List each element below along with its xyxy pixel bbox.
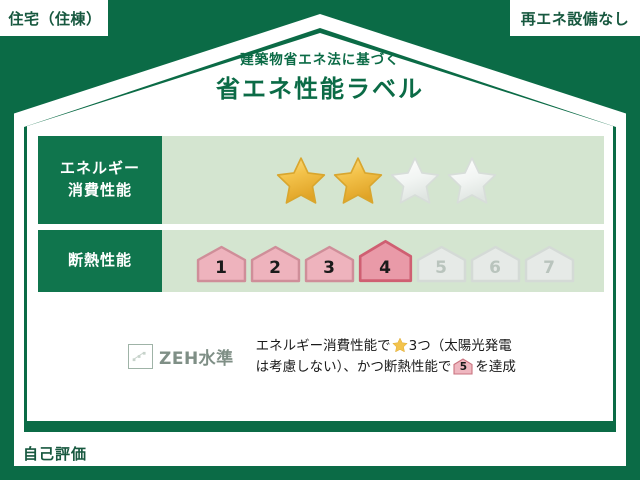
label-subtitle: 建築物省エネ法に基づく — [0, 54, 640, 68]
renewable-equipment-badge: 再エネ設備なし — [510, 0, 640, 36]
insulation-level-6: 6 — [470, 245, 521, 283]
energy-performance-label-line2: 消費性能 — [68, 180, 132, 202]
zeh-label: ZEH水準 — [159, 344, 234, 369]
star-icon-empty — [446, 155, 498, 205]
zeh-badge: ZEH水準 — [128, 344, 234, 369]
evaluation-date: 評価日 2024年9月27日 — [459, 434, 622, 453]
house-icon: 5 — [453, 358, 473, 375]
star-icon-empty — [389, 155, 441, 205]
zeh-desc-line2-b: を達成 — [475, 359, 516, 375]
self-evaluation-badge: 自己評価 — [16, 442, 94, 467]
footer-left: 自己評価 グランデュオ千歳烏山 — [16, 442, 246, 467]
insulation-level-1: 1 — [196, 245, 247, 283]
energy-label-root: 住宅（住棟） 再エネ設備なし 建築物省エネ法に基づく 省エネ性能ラベル エネルギ… — [0, 0, 640, 480]
insulation-performance-row: 断熱性能 1234567 — [38, 230, 604, 292]
insulation-level-7: 7 — [524, 245, 575, 283]
zeh-desc-line1-b: 3つ（太陽光発電 — [409, 338, 512, 354]
star-icon-filled — [332, 155, 384, 205]
house-icon-level: 5 — [453, 359, 473, 375]
insulation-level-2: 2 — [250, 245, 301, 283]
energy-performance-value — [162, 136, 604, 224]
renewable-equipment-badge-label: 再エネ設備なし — [521, 8, 630, 29]
building-type-badge: 住宅（住棟） — [0, 0, 108, 36]
star-icon — [392, 337, 408, 353]
zeh-note: ZEH水準 エネルギー消費性能で 3つ（太陽光発電 は考慮しない）、かつ断熱性能… — [128, 336, 516, 378]
evaluation-id: e9c88d46-32a6-4913 — [459, 456, 622, 468]
building-name: グランデュオ千歳烏山 — [101, 444, 246, 464]
performance-rows: エネルギー 消費性能 断熱性能 1234567 — [38, 136, 604, 298]
insulation-level-scale: 1234567 — [196, 239, 575, 283]
zeh-desc-line1-a: エネルギー消費性能で — [256, 338, 391, 354]
label-title-block: 建築物省エネ法に基づく 省エネ性能ラベル — [0, 54, 640, 101]
insulation-performance-label-line1: 断熱性能 — [68, 250, 132, 272]
insulation-level-3: 3 — [304, 245, 355, 283]
building-type-badge-label: 住宅（住棟） — [8, 8, 101, 29]
insulation-level-5: 5 — [416, 245, 467, 283]
energy-performance-label-line1: エネルギー — [60, 158, 140, 180]
footer-right: 評価日 2024年9月27日 e9c88d46-32a6-4913 — [459, 434, 622, 468]
zeh-description: エネルギー消費性能で 3つ（太陽光発電 は考慮しない）、かつ断熱性能で 5 を達… — [256, 336, 516, 378]
insulation-level-4: 4 — [358, 239, 413, 283]
zeh-mark-icon — [128, 344, 153, 369]
energy-performance-row: エネルギー 消費性能 — [38, 136, 604, 224]
zeh-desc-line2-a: は考慮しない）、かつ断熱性能で — [256, 359, 452, 375]
energy-performance-label: エネルギー 消費性能 — [38, 136, 162, 224]
label-title: 省エネ性能ラベル — [0, 77, 640, 101]
star-rating — [275, 155, 498, 205]
insulation-performance-label: 断熱性能 — [38, 230, 162, 292]
insulation-performance-value: 1234567 — [162, 230, 604, 292]
star-icon-filled — [275, 155, 327, 205]
